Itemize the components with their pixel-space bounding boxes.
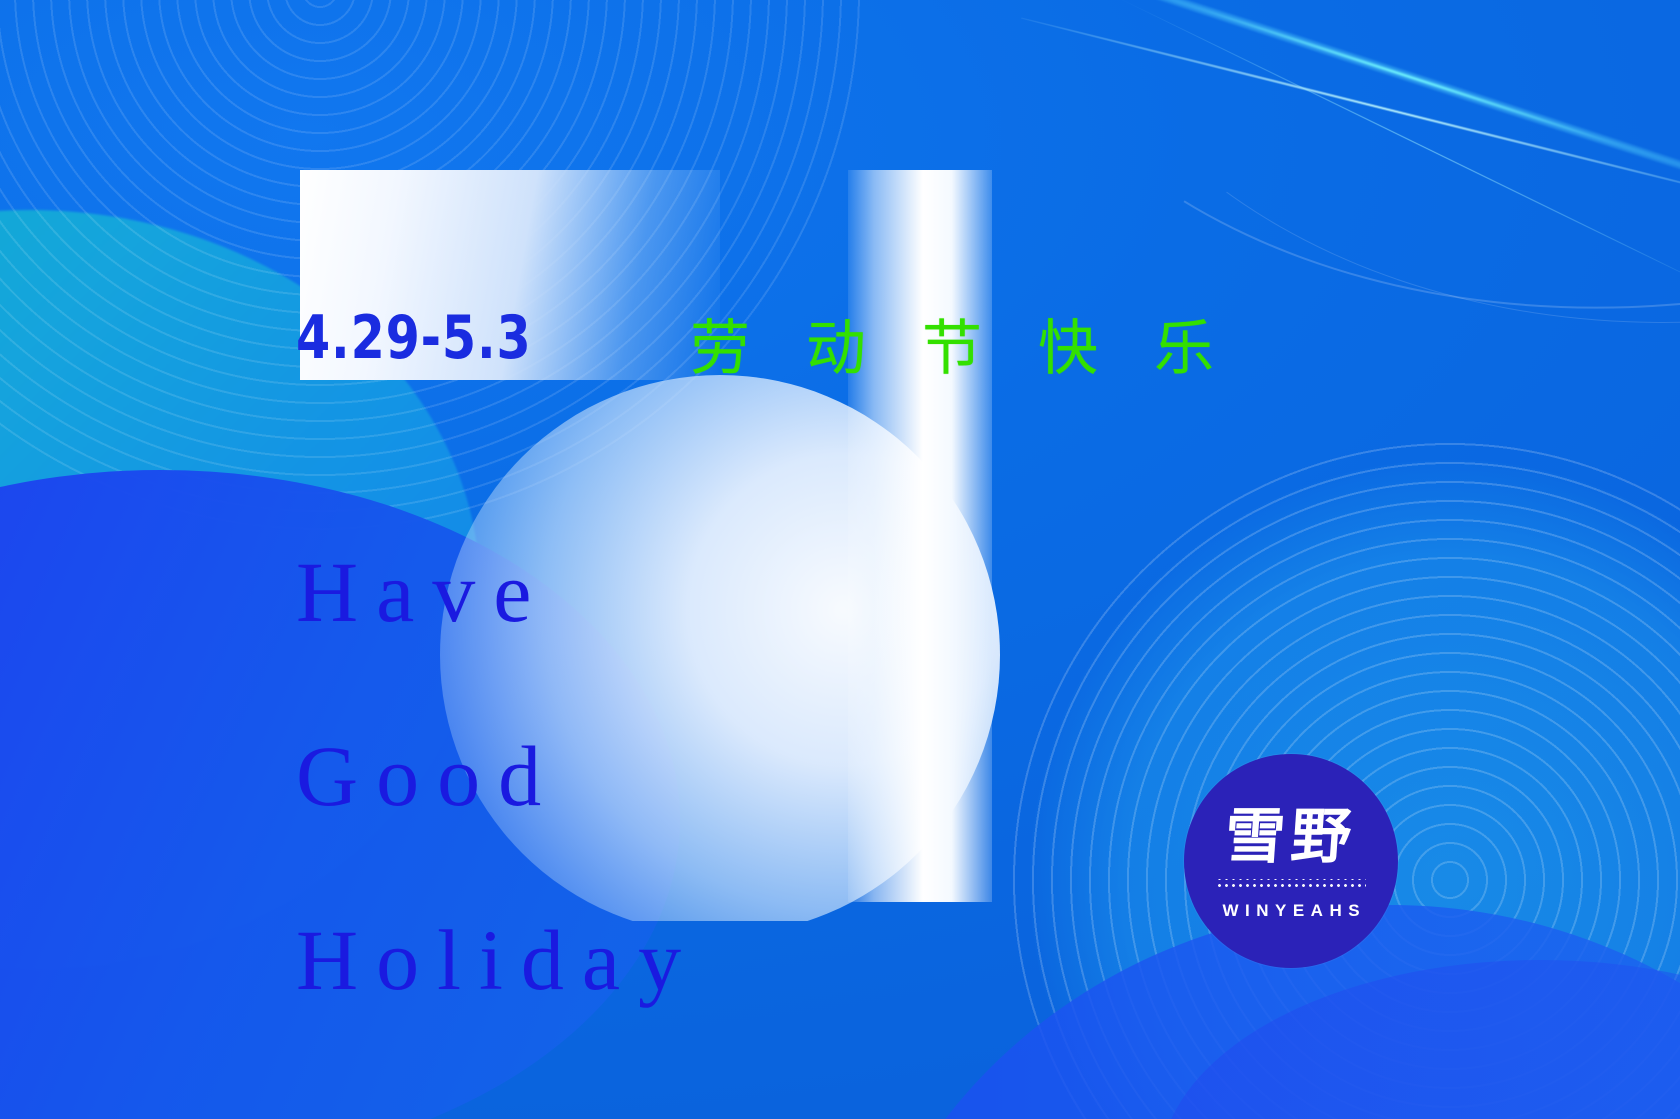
- poster-canvas: 4.29-5.3 劳动节快乐 Have Good Holiday 雪野 WINY…: [0, 0, 1680, 1119]
- slogan-line-3: Holiday: [296, 868, 936, 1052]
- slogan-line-1: Have: [296, 500, 936, 684]
- slogan-line-2: Good: [296, 684, 936, 868]
- brand-name-english: WINYEAHS: [1216, 901, 1366, 921]
- light-streak-core: [985, 0, 1680, 347]
- english-slogan: Have Good Holiday: [296, 500, 936, 1052]
- brand-logo-badge[interactable]: 雪野 WINYEAHS: [1184, 754, 1398, 968]
- chinese-greeting: 劳动节快乐: [690, 300, 1270, 387]
- bottom-right-sweep-two: [1160, 960, 1680, 1119]
- brand-name-chinese: 雪野: [1223, 807, 1359, 867]
- holiday-date-range: 4.29-5.3: [296, 303, 532, 373]
- dotted-rule-icon: [1216, 879, 1366, 889]
